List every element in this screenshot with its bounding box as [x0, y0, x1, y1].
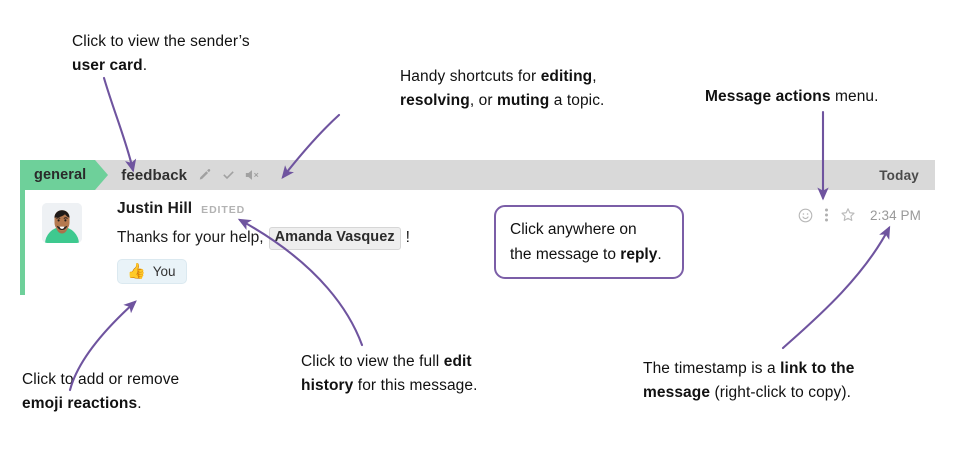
callout-reply-line2: the message to reply. — [510, 243, 682, 268]
annotation-user-card-line1: Click to view the sender’s — [72, 30, 250, 54]
message-timestamp[interactable]: 2:34 PM — [870, 208, 921, 223]
annotation-topic-shortcuts-line1: Handy shortcuts for editing, — [400, 65, 604, 89]
message-panel: general feedback Today — [20, 160, 935, 295]
thumbs-up-icon: 👍 — [127, 264, 146, 279]
arrow-to-avatar — [104, 78, 133, 170]
annotation-emoji-reactions: Click to add or remove emoji reactions. — [22, 368, 179, 416]
annotation-emoji-bold: emoji reactions — [22, 395, 137, 412]
annotation-message-actions-tail: menu. — [831, 88, 879, 105]
annotation-topic-shortcuts-line2: resolving, or muting a topic. — [400, 89, 604, 113]
annotation-timestamp-tail: (right-click to copy). — [710, 384, 851, 401]
annotation-emoji-line2: emoji reactions. — [22, 392, 179, 416]
user-mention[interactable]: Amanda Vasquez — [269, 227, 401, 250]
resolve-topic-icon[interactable] — [221, 168, 236, 182]
annotation-shortcuts-editing: editing — [541, 68, 593, 85]
message-text-before: Thanks for your help, — [117, 228, 264, 249]
annotation-timestamp-b2: message — [643, 384, 710, 401]
message-row[interactable]: Justin Hill EDITED Thanks for your help,… — [20, 190, 935, 295]
annotation-user-card: Click to view the sender’s user card. — [72, 30, 250, 78]
annotation-timestamp-lead: The timestamp is a — [643, 360, 780, 377]
callout-reply-tail: . — [657, 246, 661, 263]
annotation-shortcuts-lead: Handy shortcuts for — [400, 68, 541, 85]
emoji-reaction-icon[interactable] — [798, 208, 813, 223]
star-message-icon[interactable] — [840, 207, 856, 223]
annotation-emoji-tail: . — [137, 395, 141, 412]
annotation-message-actions: Message actions menu. — [705, 85, 879, 109]
reaction-chip-thumbsup[interactable]: 👍 You — [117, 259, 187, 284]
annotation-shortcuts-tail: a topic. — [549, 92, 604, 109]
annotation-shortcuts-resolving: resolving — [400, 92, 470, 109]
sender-name[interactable]: Justin Hill — [117, 200, 192, 218]
date-label-today: Today — [879, 168, 919, 183]
annotation-topic-shortcuts: Handy shortcuts for editing, resolving, … — [400, 65, 604, 113]
annotation-edit-history-b2: history — [301, 377, 353, 394]
topic-action-icons — [198, 168, 262, 182]
callout-reply: Click anywhere on the message to reply. — [494, 205, 684, 279]
callout-reply-bold: reply — [620, 246, 657, 263]
edit-topic-icon[interactable] — [198, 168, 212, 182]
annotation-edit-history-line2: history for this message. — [301, 374, 478, 398]
callout-reply-lead: the message to — [510, 246, 620, 263]
annotation-shortcuts-muting: muting — [497, 92, 549, 109]
annotation-edit-history-tail: for this message. — [353, 377, 477, 394]
recipient-bar: general feedback Today — [20, 160, 935, 190]
edited-marker[interactable]: EDITED — [201, 204, 245, 216]
message-text-after: ! — [406, 228, 410, 249]
annotation-timestamp-line2: message (right-click to copy). — [643, 381, 854, 405]
annotation-timestamp-line1: The timestamp is a link to the — [643, 357, 854, 381]
message-controls: 2:34 PM — [798, 207, 921, 223]
annotation-timestamp-b1: link to the — [780, 360, 854, 377]
annotation-shortcuts-mid2: , or — [470, 92, 497, 109]
stream-name-tag[interactable]: general — [20, 160, 95, 190]
callout-reply-line1: Click anywhere on — [510, 218, 682, 243]
annotation-user-card-bold: user card — [72, 57, 143, 74]
annotation-edit-history: Click to view the full edit history for … — [301, 350, 478, 398]
annotation-message-actions-bold: Message actions — [705, 88, 831, 105]
avatar[interactable] — [42, 203, 82, 243]
annotation-shortcuts-mid1: , — [592, 68, 596, 85]
annotation-edit-history-b1: edit — [444, 353, 472, 370]
topic-name[interactable]: feedback — [121, 167, 187, 184]
message-actions-icon[interactable] — [824, 207, 829, 223]
annotation-edit-history-lead: Click to view the full — [301, 353, 444, 370]
annotation-edit-history-line1: Click to view the full edit — [301, 350, 478, 374]
mute-topic-icon[interactable] — [245, 168, 262, 182]
annotation-user-card-tail: . — [143, 57, 147, 74]
reaction-chip-label: You — [153, 264, 176, 279]
annotation-user-card-line2: user card. — [72, 54, 250, 78]
annotation-timestamp-link: The timestamp is a link to the message (… — [643, 357, 854, 405]
annotation-emoji-line1: Click to add or remove — [22, 368, 179, 392]
